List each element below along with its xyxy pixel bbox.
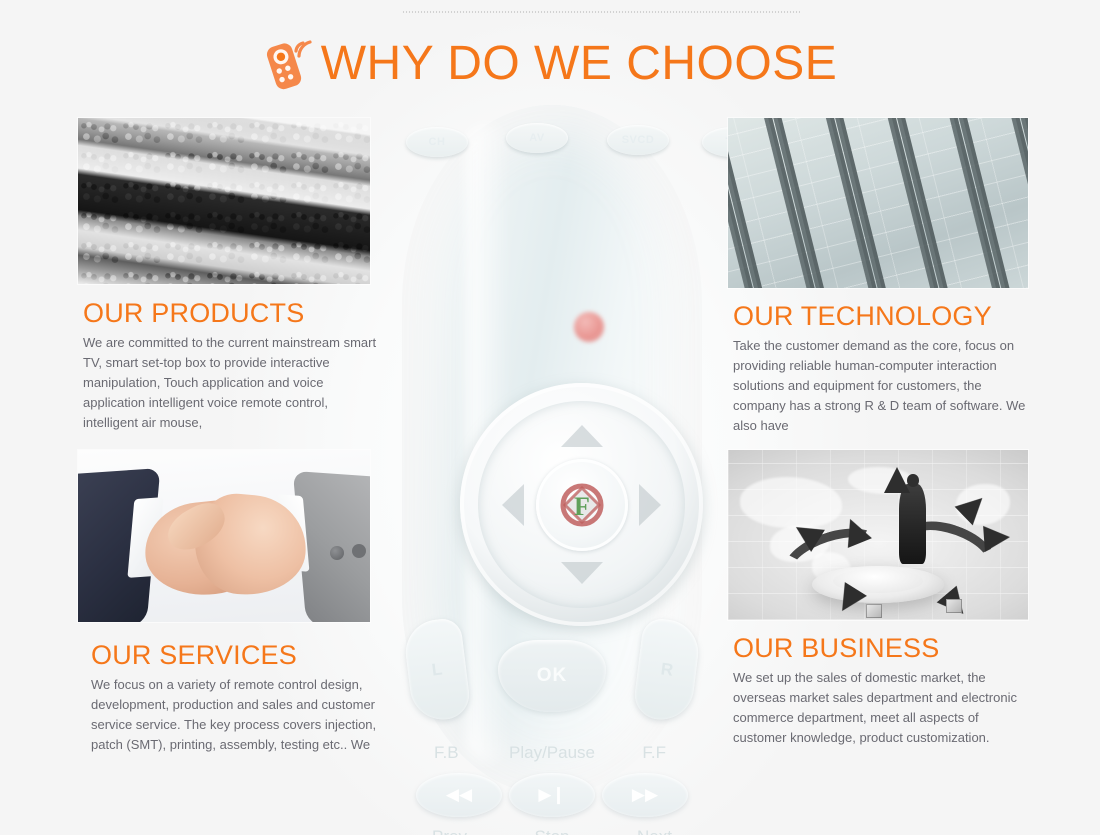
cube-2 [946, 599, 962, 613]
label-fast-backward: F.B [434, 743, 459, 763]
photo-global-business-arrows [728, 450, 1028, 620]
heading-our-products: OUR PRODUCTS [83, 298, 374, 329]
page-title: WHY DO WE CHOOSE [321, 40, 837, 88]
photo-circuit-board [728, 118, 1028, 288]
feature-block-technology: OUR TECHNOLOGY Take the customer demand … [728, 118, 1030, 436]
remote-left-button[interactable]: L [402, 617, 472, 723]
remote-ok-button[interactable]: OK [498, 640, 606, 712]
f-diamond-logo-icon: F [555, 478, 609, 532]
body-our-services: We focus on a variety of remote control … [91, 675, 381, 755]
photo-inner [728, 118, 1028, 288]
feature-block-products: OUR PRODUCTS We are committed to the cur… [78, 118, 374, 433]
feature-block-services: OUR SERVICES We focus on a variety of re… [78, 450, 374, 755]
label-next: Next [637, 827, 672, 835]
button-forward-icon[interactable]: ▶▶ [602, 773, 688, 817]
dpad-right-icon[interactable] [639, 484, 661, 526]
label-fast-forward: F.F [642, 743, 666, 763]
label-play-pause: Play/Pause [509, 743, 595, 763]
remote-body: CH AV SVCD TV F [402, 105, 702, 795]
body-our-business: We set up the sales of domestic market, … [733, 668, 1033, 748]
photo-inner [728, 450, 1028, 620]
remote-control-signal-icon [263, 36, 315, 92]
remote-top-button-av[interactable]: AV [506, 123, 568, 153]
svg-text:F: F [574, 492, 590, 521]
heading-our-business: OUR BUSINESS [733, 633, 1030, 664]
ir-led-indicator [574, 312, 604, 342]
dpad-left-icon[interactable] [502, 484, 524, 526]
remote-top-button-ch[interactable]: CH [406, 127, 468, 157]
photo-inner [78, 118, 370, 284]
feature-block-business: OUR BUSINESS We set up the sales of dome… [728, 450, 1030, 748]
label-prev: Prev [432, 827, 467, 835]
top-dotted-divider [402, 11, 800, 13]
heading-our-technology: OUR TECHNOLOGY [733, 301, 1030, 332]
remote-gloss-highlight [466, 123, 510, 763]
landmass-1 [740, 477, 842, 528]
heading-our-services: OUR SERVICES [91, 640, 374, 671]
remote-right-button[interactable]: R [632, 617, 702, 723]
photo-stacked-remote-controls [78, 118, 370, 284]
photo-business-handshake [78, 450, 370, 622]
body-our-products: We are committed to the current mainstre… [83, 333, 383, 433]
remote-top-button-svcd[interactable]: SVCD [607, 125, 669, 155]
button-rewind-icon[interactable]: ◀◀ [416, 773, 502, 817]
page-root: WHY DO WE CHOOSE CH AV SVCD TV [0, 0, 1100, 835]
dpad-down-icon[interactable] [561, 562, 603, 584]
body-our-technology: Take the customer demand as the core, fo… [733, 336, 1037, 436]
page-header: WHY DO WE CHOOSE [0, 36, 1100, 92]
arrow-right-icon [983, 524, 1011, 552]
dpad-inner-ring: F [478, 401, 685, 608]
cube-1 [866, 604, 882, 618]
arrow-up-icon [884, 467, 910, 493]
photo-inner [78, 450, 370, 622]
dpad-center-button[interactable]: F [536, 459, 628, 551]
sleeve-buttons [330, 546, 344, 560]
label-stop: Stop [535, 827, 570, 835]
dpad-ring[interactable]: F [460, 383, 703, 626]
remote-control-backdrop: CH AV SVCD TV F [372, 105, 732, 805]
button-play-pause-icon[interactable]: ▶❙ [509, 773, 595, 817]
businessman-figure [899, 484, 926, 564]
dpad-up-icon[interactable] [561, 425, 603, 447]
